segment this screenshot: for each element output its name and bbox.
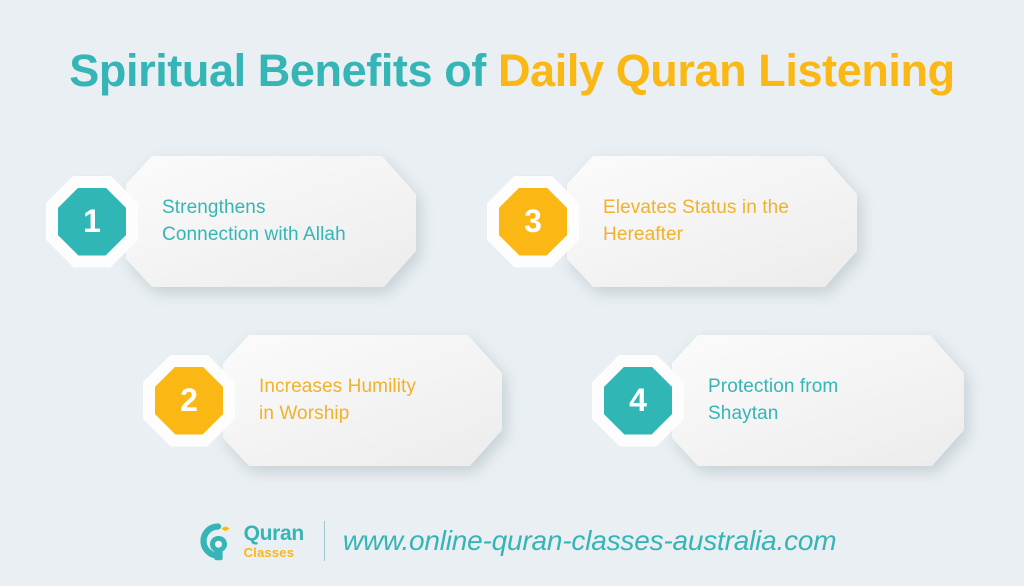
website-url[interactable]: www.online-quran-classes-australia.com — [343, 525, 837, 557]
benefit-label-2-line2: in Worship — [259, 401, 416, 427]
brand-logo-wordmark: Quran Classes — [244, 523, 304, 559]
benefit-number-1: 1 — [58, 188, 126, 256]
page-title-teal-part: Spiritual Benefits of — [69, 45, 498, 96]
footer-divider — [324, 521, 325, 561]
benefit-card-shell-2: Increases Humility in Worship — [223, 335, 502, 466]
benefit-item-2[interactable]: 2 Increases Humility in Worship — [143, 328, 502, 473]
benefit-label-4: Protection from Shaytan — [708, 374, 838, 426]
benefit-label-4-line2: Shaytan — [708, 401, 838, 427]
benefit-number-2: 2 — [155, 367, 223, 435]
benefit-badge-1: 1 — [46, 176, 138, 268]
benefit-label-1-line1: Strengthens — [162, 195, 346, 221]
benefit-item-1[interactable]: 1 Strengthens Connection with Allah — [46, 149, 416, 294]
benefit-label-3-line2: Hereafter — [603, 222, 789, 248]
title-bar: Spiritual Benefits of Daily Quran Listen… — [0, 46, 1024, 96]
benefit-badge-3: 3 — [487, 176, 579, 268]
benefit-label-3-line1: Elevates Status in the — [603, 195, 789, 221]
benefit-label-2: Increases Humility in Worship — [259, 374, 416, 426]
benefit-label-4-line1: Protection from — [708, 374, 838, 400]
footer: Quran Classes www.online-quran-classes-a… — [0, 518, 1024, 564]
benefit-card-shell-1: Strengthens Connection with Allah — [126, 156, 416, 287]
benefit-card-shell-3: Elevates Status in the Hereafter — [567, 156, 857, 287]
page-title-amber-part: Daily Quran Listening — [498, 45, 955, 96]
benefit-card-3[interactable]: Elevates Status in the Hereafter — [567, 156, 857, 287]
benefit-card-shell-4: Protection from Shaytan — [672, 335, 964, 466]
benefit-label-1: Strengthens Connection with Allah — [162, 195, 346, 247]
benefit-label-3: Elevates Status in the Hereafter — [603, 195, 789, 247]
benefit-badge-2: 2 — [143, 355, 235, 447]
brand-name-secondary: Classes — [244, 546, 304, 559]
benefit-number-3: 3 — [499, 188, 567, 256]
quran-classes-logo-icon — [188, 518, 238, 564]
benefit-label-1-line2: Connection with Allah — [162, 222, 346, 248]
benefit-item-4[interactable]: 4 Protection from Shaytan — [592, 328, 964, 473]
brand-logo[interactable]: Quran Classes — [188, 518, 304, 564]
benefit-badge-4: 4 — [592, 355, 684, 447]
benefit-card-4[interactable]: Protection from Shaytan — [672, 335, 964, 466]
benefit-card-2[interactable]: Increases Humility in Worship — [223, 335, 502, 466]
benefit-number-4: 4 — [604, 367, 672, 435]
benefit-label-2-line1: Increases Humility — [259, 374, 416, 400]
benefit-card-1[interactable]: Strengthens Connection with Allah — [126, 156, 416, 287]
page-title: Spiritual Benefits of Daily Quran Listen… — [0, 46, 1024, 96]
benefit-item-3[interactable]: 3 Elevates Status in the Hereafter — [487, 149, 857, 294]
brand-name-primary: Quran — [244, 523, 304, 544]
benefits-grid: 1 Strengthens Connection with Allah 3 El… — [0, 145, 1024, 485]
